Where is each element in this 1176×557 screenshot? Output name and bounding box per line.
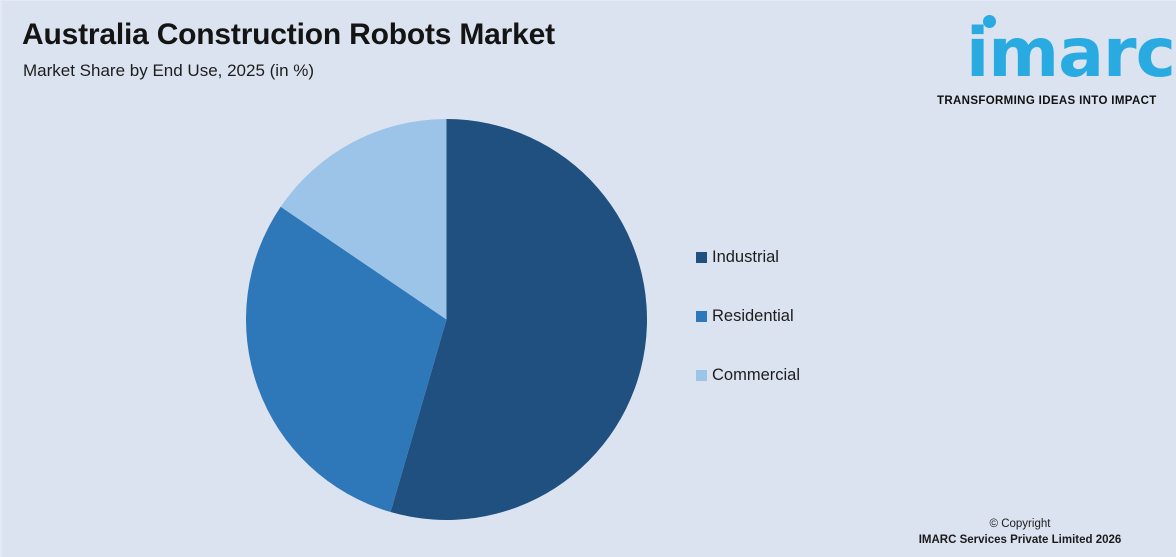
pie-chart-svg: [246, 119, 647, 520]
legend-item[interactable]: Commercial: [696, 362, 800, 389]
legend-label: Commercial: [712, 366, 800, 385]
legend-item[interactable]: Residential: [696, 303, 800, 330]
logo-tagline: TRANSFORMING IDEAS INTO IMPACT: [937, 95, 1157, 107]
legend-label: Industrial: [712, 248, 779, 267]
legend-label: Residential: [712, 307, 794, 326]
imarc-logo: imarc TRANSFORMING IDEAS INTO IMPACT: [928, 9, 1170, 109]
chart-canvas: Australia Construction Robots Market Mar…: [0, 0, 1176, 557]
pie-chart: [246, 119, 647, 520]
copyright-company-line: IMARC Services Private Limited 2026: [870, 532, 1170, 548]
chart-subtitle: Market Share by End Use, 2025 (in %): [23, 61, 314, 81]
copyright-block: © Copyright IMARC Services Private Limit…: [870, 516, 1170, 548]
chart-legend: IndustrialResidentialCommercial: [696, 244, 800, 421]
page-title: Australia Construction Robots Market: [22, 18, 555, 52]
logo-wordmark: imarc: [966, 20, 1175, 88]
legend-item[interactable]: Industrial: [696, 244, 800, 271]
legend-swatch-icon: [696, 370, 707, 381]
legend-swatch-icon: [696, 311, 707, 322]
copyright-symbol-line: © Copyright: [870, 516, 1170, 532]
legend-swatch-icon: [696, 252, 707, 263]
